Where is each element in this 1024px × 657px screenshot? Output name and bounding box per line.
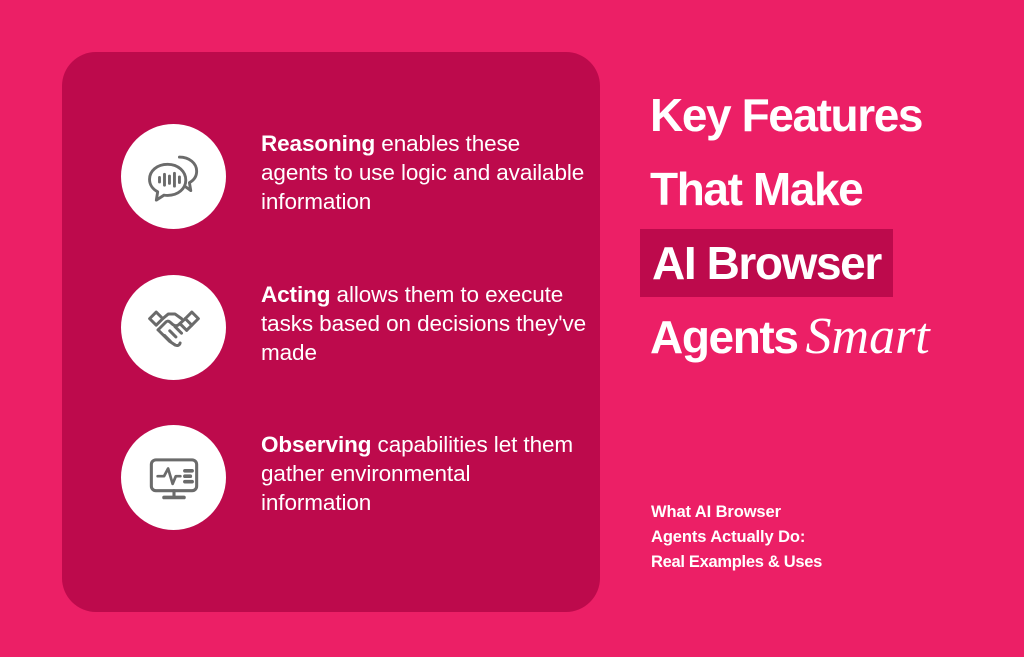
feature-item-acting: Acting allows them to execute tasks base… xyxy=(121,274,591,380)
feature-text-acting: Acting allows them to execute tasks base… xyxy=(261,274,591,367)
feature-item-observing: Observing capabilities let them gather e… xyxy=(121,424,591,530)
monitor-pulse-icon xyxy=(121,425,226,530)
subtitle-block: What AI Browser Agents Actually Do: Real… xyxy=(651,500,981,575)
headline-line-3-highlighted: AI Browser xyxy=(640,229,893,297)
feature-item-reasoning: Reasoning enables these agents to use lo… xyxy=(121,123,591,229)
feature-text-observing: Observing capabilities let them gather e… xyxy=(261,424,581,517)
headline-agents-word: Agents xyxy=(650,311,798,363)
headline-line-1: Key Features xyxy=(650,78,1010,152)
feature-card: Reasoning enables these agents to use lo… xyxy=(62,52,600,612)
feature-text-reasoning: Reasoning enables these agents to use lo… xyxy=(261,123,591,216)
feature-list: Reasoning enables these agents to use lo… xyxy=(62,52,600,612)
feature-lead: Reasoning xyxy=(261,131,375,156)
handshake-icon xyxy=(121,275,226,380)
subtitle-line-3: Real Examples & Uses xyxy=(651,550,981,575)
feature-lead: Observing xyxy=(261,432,371,457)
speech-bubbles-waveform-icon xyxy=(121,124,226,229)
subtitle-line-2: Agents Actually Do: xyxy=(651,525,981,550)
headline-smart-word: Smart xyxy=(798,308,930,365)
headline-line-2: That Make xyxy=(650,152,1010,226)
feature-lead: Acting xyxy=(261,282,330,307)
subtitle-line-1: What AI Browser xyxy=(651,500,981,525)
headline-line-4: AgentsSmart xyxy=(650,300,1010,374)
headline-block: Key Features That Make AI Browser Agents… xyxy=(650,78,1010,374)
poster-canvas: Reasoning enables these agents to use lo… xyxy=(0,0,1024,657)
